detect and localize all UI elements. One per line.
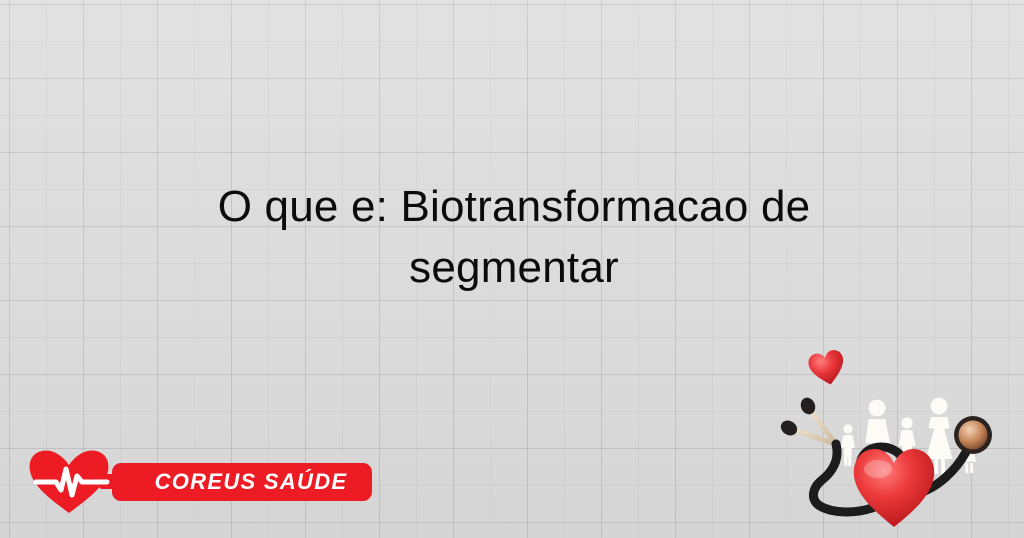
heart-pulse-icon [27, 449, 111, 515]
large-heart-icon [854, 449, 934, 527]
title-line-1: O que e: Biotransformacao de [90, 176, 938, 237]
slide-canvas: O que e: Biotransformacao de segmentar C… [0, 0, 1024, 538]
page-title: O que e: Biotransformacao de segmentar [90, 176, 938, 298]
small-heart-icon [807, 348, 848, 388]
brand-logo[interactable]: COREUS SAÚDE [27, 447, 352, 515]
title-line-2: segmentar [90, 237, 938, 298]
brand-name-label: COREUS SAÚDE [137, 471, 348, 493]
brand-name-badge: COREUS SAÚDE [112, 463, 372, 501]
medical-collage-image [776, 348, 1024, 538]
